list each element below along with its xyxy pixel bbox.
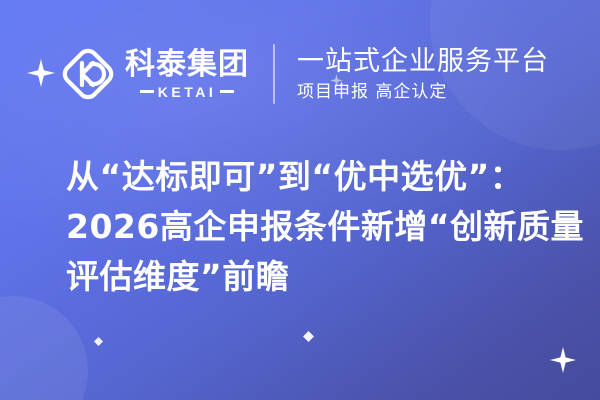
- brand-name-en: KETAI: [158, 85, 216, 99]
- headline: 从“达标即可”到“优中选优”： 2026高企申报条件新增“创新质量 评估维度”前…: [66, 152, 578, 302]
- tagline-main: 一站式企业服务平台: [297, 46, 549, 77]
- banner-header: 科泰集团 KETAI 一站式企业服务平台 项目申报 高企认定: [0, 34, 600, 114]
- brand-name-cn: 科泰集团: [125, 50, 249, 80]
- sparkle-bottom-right-icon: [550, 347, 576, 373]
- headline-line-2: 2026高企申报条件新增“创新质量: [66, 202, 578, 252]
- diamond-kd-monogram-icon: [60, 46, 116, 102]
- sparkle-bottom-left-icon: [94, 337, 103, 346]
- brand-name-en-row: KETAI: [140, 85, 234, 99]
- brand-logo[interactable]: 科泰集团 KETAI: [60, 46, 249, 102]
- sparkle-bottom-center-icon: [303, 331, 314, 342]
- brand-wordmark: 科泰集团 KETAI: [125, 50, 249, 99]
- vertical-divider: [273, 44, 275, 104]
- blob-bottom-left: [0, 296, 88, 400]
- headline-line-3: 评估维度”前瞻: [66, 252, 578, 302]
- promo-banner: 科泰集团 KETAI 一站式企业服务平台 项目申报 高企认定 从“达标即可”到“…: [0, 0, 600, 400]
- tagline-sub: 项目申报 高企认定: [297, 82, 549, 102]
- rule-left-icon: [140, 90, 154, 93]
- tagline-block: 一站式企业服务平台 项目申报 高企认定: [297, 46, 549, 102]
- headline-line-1: 从“达标即可”到“优中选优”：: [66, 152, 578, 202]
- rule-right-icon: [220, 90, 234, 93]
